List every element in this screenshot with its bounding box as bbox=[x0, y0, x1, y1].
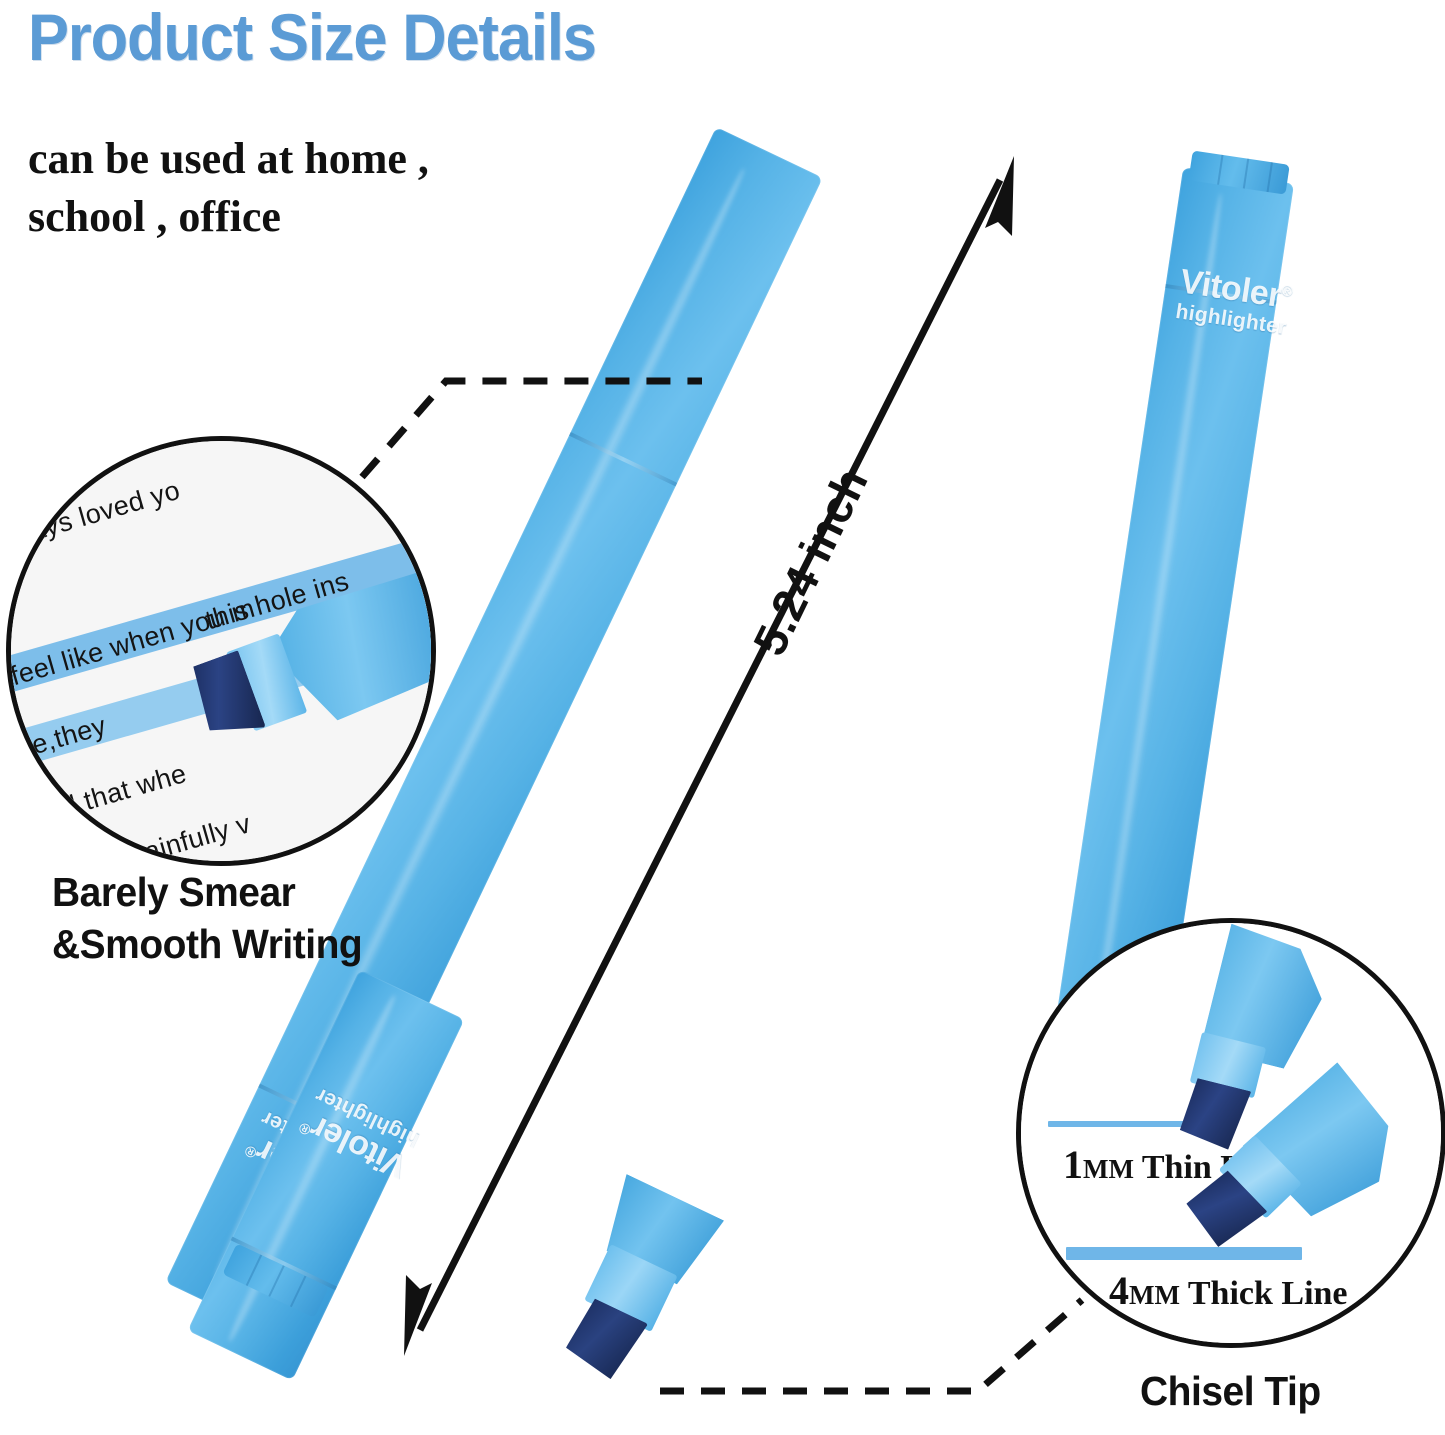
dimension-arrow-shaft bbox=[420, 180, 1000, 1330]
infographic-canvas: Product Size Details can be used at home… bbox=[0, 0, 1445, 1435]
leader-line-smear bbox=[362, 381, 702, 477]
annotation-overlay bbox=[0, 0, 1445, 1435]
leader-line-chisel bbox=[660, 1300, 1082, 1391]
